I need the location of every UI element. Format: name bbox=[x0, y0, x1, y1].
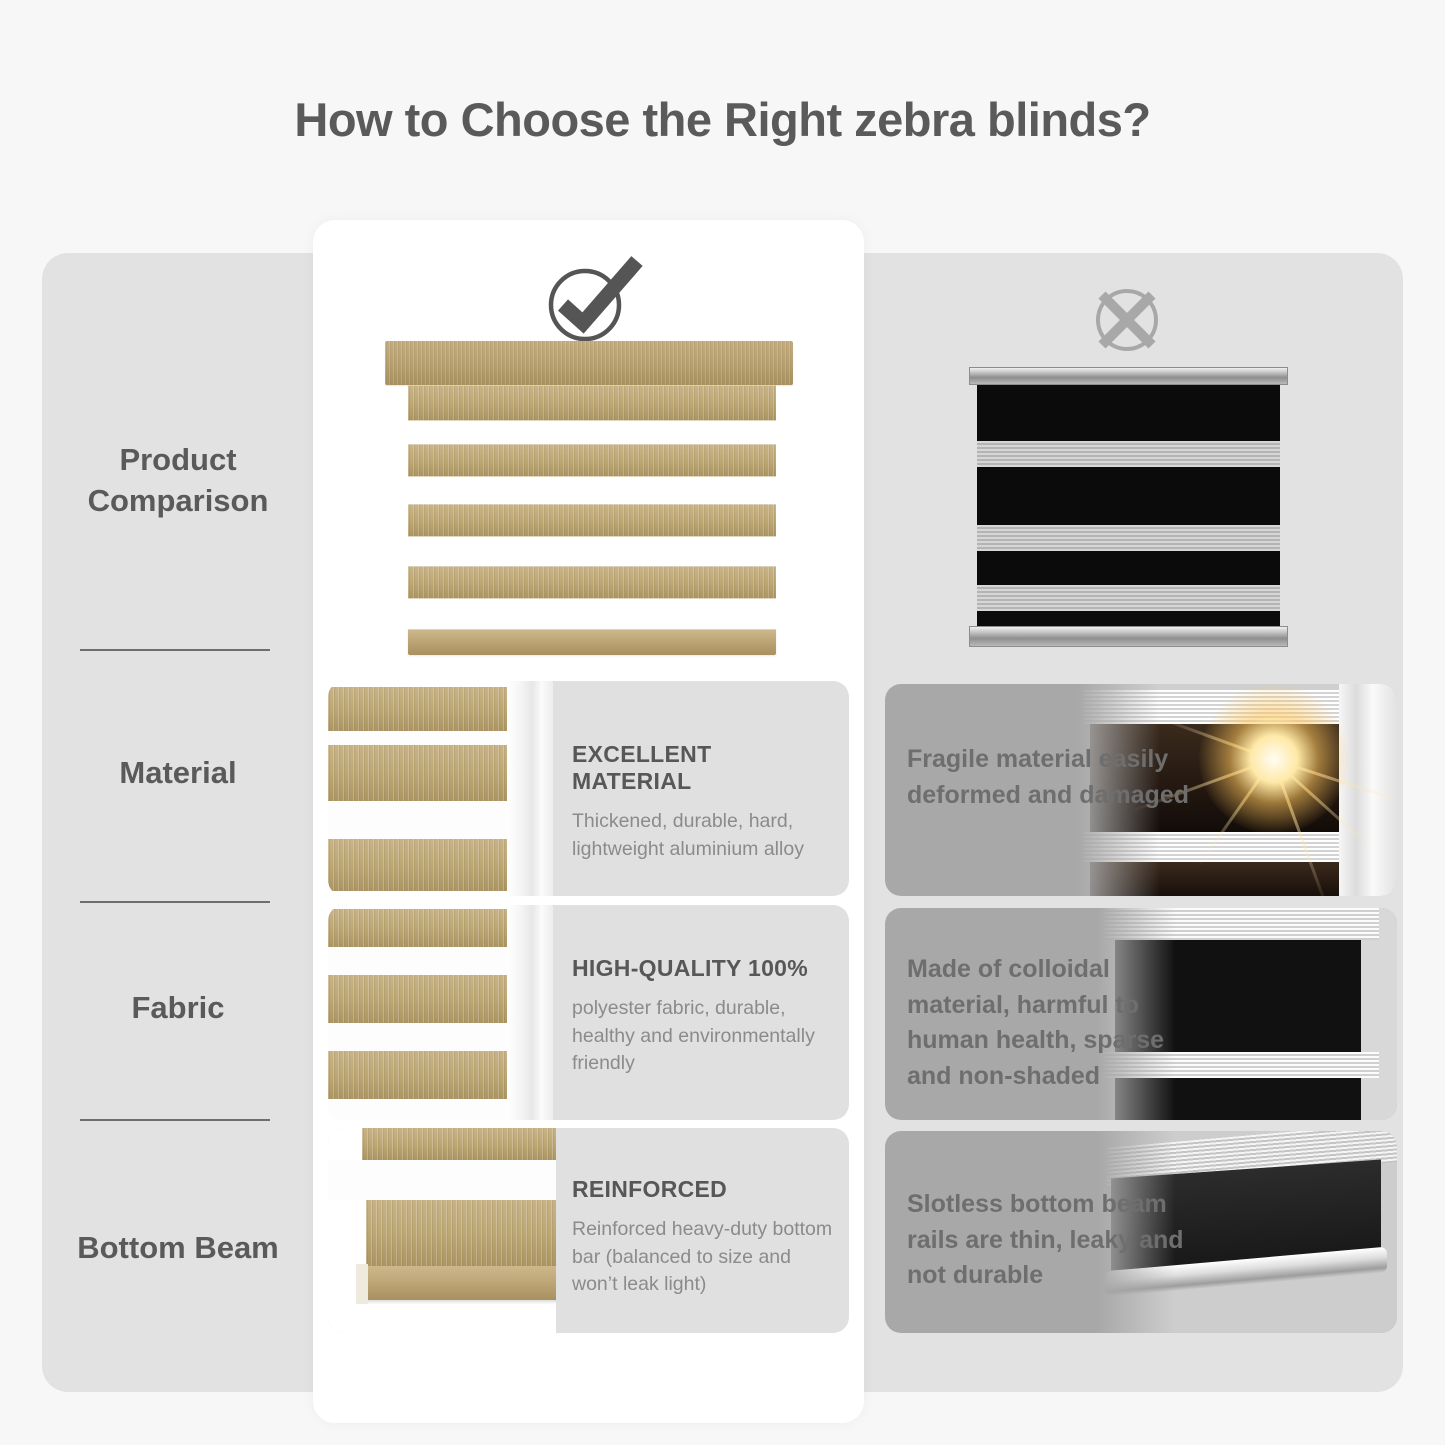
bottom-bar-endcap bbox=[356, 1264, 368, 1304]
rail-item-material: Material bbox=[42, 708, 314, 838]
rail-label: Bottom Beam bbox=[77, 1228, 279, 1269]
feature-body: Reinforced heavy-duty bottom bar (balanc… bbox=[572, 1216, 840, 1299]
rail-divider-3 bbox=[80, 1119, 270, 1121]
blind-gap bbox=[328, 1160, 556, 1200]
rail-divider-2 bbox=[80, 901, 270, 903]
check-circle-icon bbox=[537, 255, 647, 347]
rail-item-bottom-beam: Bottom Beam bbox=[42, 1168, 314, 1328]
feature-text-material-good: EXCELLENT MATERIAL Thickened, durable, h… bbox=[572, 741, 834, 863]
feature-card-material-bad: Fragile material easily deformed and dam… bbox=[885, 684, 1397, 896]
feature-body: Thickened, durable, hard, lightweight al… bbox=[572, 808, 834, 863]
feature-heading: REINFORCED bbox=[572, 1176, 840, 1203]
feature-heading: EXCELLENT MATERIAL bbox=[572, 741, 834, 795]
feature-body: Made of colloidal material, harmful to h… bbox=[907, 952, 1207, 1094]
sheer-band bbox=[977, 585, 1280, 611]
rail-item-product-comparison: Product Comparison bbox=[42, 373, 314, 588]
bottom-bar bbox=[969, 626, 1288, 647]
feature-text-bottom-beam-good: REINFORCED Reinforced heavy-duty bottom … bbox=[572, 1176, 840, 1299]
feature-heading: HIGH-QUALITY 100% bbox=[572, 955, 840, 982]
sheer-band bbox=[977, 525, 1280, 551]
page-title: How to Choose the Right zebra blinds? bbox=[0, 92, 1445, 147]
bottom-bar bbox=[408, 629, 776, 655]
feature-body: polyester fabric, durable, healthy and e… bbox=[572, 995, 840, 1078]
feature-text-fabric-bad: Made of colloidal material, harmful to h… bbox=[907, 952, 1207, 1094]
blind-slat bbox=[408, 566, 776, 599]
infographic-page: How to Choose the Right zebra blinds? Pr… bbox=[0, 0, 1445, 1445]
blind-slat bbox=[366, 1200, 556, 1266]
feature-card-bottom-beam-good: REINFORCED Reinforced heavy-duty bottom … bbox=[328, 1128, 849, 1333]
blind-slat bbox=[408, 504, 776, 537]
blind-slat bbox=[408, 444, 776, 477]
feature-text-fabric-good: HIGH-QUALITY 100% polyester fabric, dura… bbox=[572, 955, 840, 1078]
rail-divider-1 bbox=[80, 649, 270, 651]
headrail bbox=[969, 367, 1288, 385]
window-frame bbox=[507, 681, 553, 896]
feature-card-material-good: EXCELLENT MATERIAL Thickened, durable, h… bbox=[328, 681, 849, 896]
blind-slat bbox=[362, 1128, 556, 1160]
rail-label: Product Comparison bbox=[42, 440, 314, 522]
rail-label: Material bbox=[119, 753, 236, 794]
feature-text-material-bad: Fragile material easily deformed and dam… bbox=[907, 742, 1197, 813]
feature-card-fabric-good: HIGH-QUALITY 100% polyester fabric, dura… bbox=[328, 905, 849, 1120]
beige-fabric-closeup-photo bbox=[328, 905, 553, 1120]
window-frame bbox=[507, 905, 553, 1120]
category-rail: Product Comparison Material Fabric Botto… bbox=[42, 253, 314, 1392]
x-circle-icon bbox=[1086, 281, 1168, 359]
feature-text-bottom-beam-bad: Slotless bottom beam rails are thin, lea… bbox=[907, 1187, 1197, 1294]
rail-label: Fabric bbox=[131, 988, 224, 1029]
bottom-bar bbox=[360, 1266, 556, 1300]
hero-black-zebra-blind bbox=[969, 367, 1288, 647]
feature-body: Slotless bottom beam rails are thin, lea… bbox=[907, 1187, 1197, 1294]
headrail bbox=[385, 341, 793, 385]
rail-item-fabric: Fabric bbox=[42, 943, 314, 1073]
blind-fabric bbox=[977, 385, 1280, 626]
feature-card-fabric-bad: Made of colloidal material, harmful to h… bbox=[885, 908, 1397, 1120]
feature-card-bottom-beam-bad: Slotless bottom beam rails are thin, lea… bbox=[885, 1131, 1397, 1333]
beige-bottom-bar-photo bbox=[328, 1128, 556, 1333]
hero-beige-zebra-blind bbox=[385, 341, 793, 665]
beige-blind-closeup-photo bbox=[328, 681, 553, 896]
feature-body: Fragile material easily deformed and dam… bbox=[907, 742, 1197, 813]
sheer-band bbox=[977, 441, 1280, 467]
blind-slat bbox=[408, 385, 776, 421]
